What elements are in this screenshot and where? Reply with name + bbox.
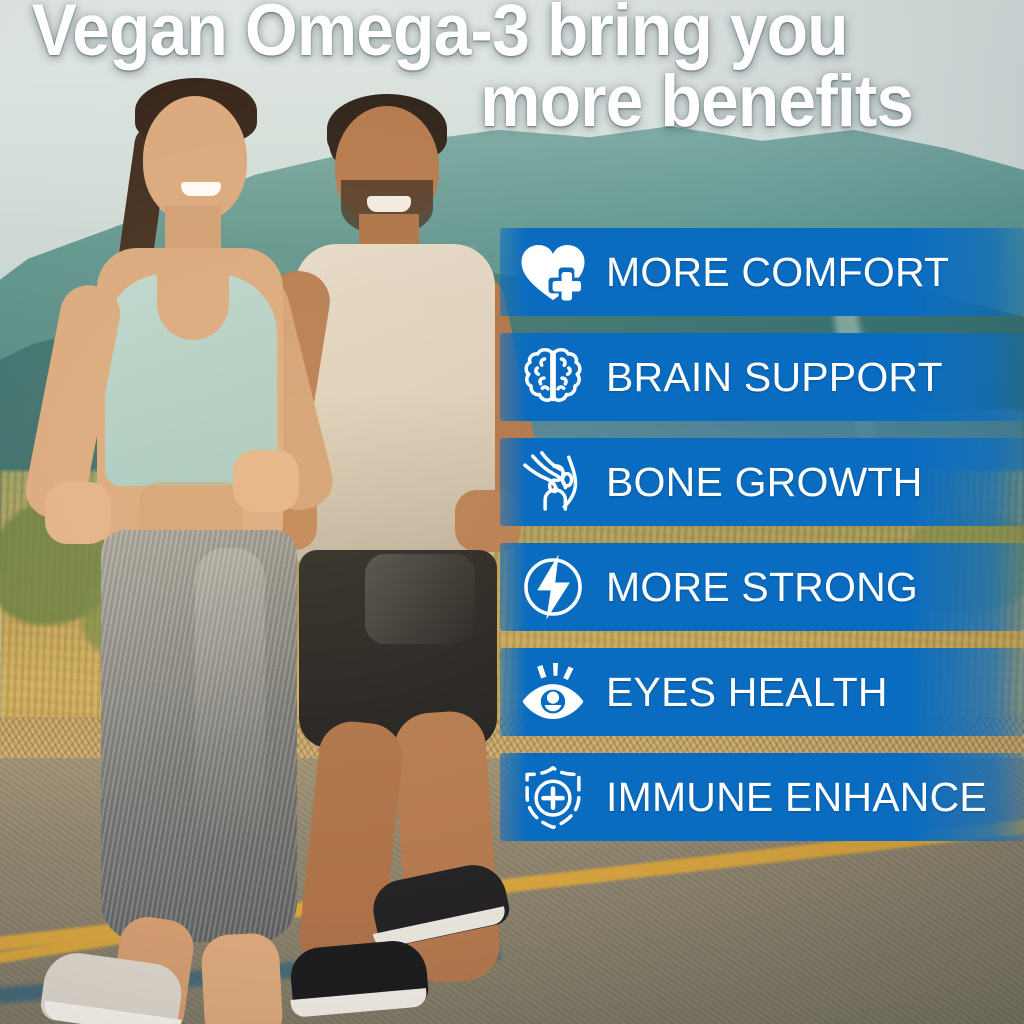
- benefit-label: MORE COMFORT: [606, 249, 949, 296]
- benefits-list: MORE COMFORT BRAIN SUPPOR: [500, 228, 1024, 858]
- brain-icon: [514, 338, 592, 416]
- eye-icon: [514, 653, 592, 731]
- benefit-row-more-strong: MORE STRONG: [500, 543, 1024, 631]
- product-benefits-poster: Vegan Omega-3 bring you more benefits MO…: [0, 0, 1024, 1024]
- benefit-label: IMMUNE ENHANCE: [606, 774, 987, 821]
- knee-joint-icon: [514, 443, 592, 521]
- lightning-bolt-icon: [514, 548, 592, 626]
- benefit-row-eyes-health: EYES HEALTH: [500, 648, 1024, 736]
- benefit-row-brain-support: BRAIN SUPPORT: [500, 333, 1024, 421]
- benefit-label: BRAIN SUPPORT: [606, 354, 943, 401]
- shield-plus-icon: [514, 758, 592, 836]
- benefit-label: MORE STRONG: [606, 564, 918, 611]
- benefit-row-more-comfort: MORE COMFORT: [500, 228, 1024, 316]
- benefit-label: BONE GROWTH: [606, 459, 923, 506]
- benefit-label: EYES HEALTH: [606, 669, 888, 716]
- benefit-row-bone-growth: BONE GROWTH: [500, 438, 1024, 526]
- benefit-row-immune-enhance: IMMUNE ENHANCE: [500, 753, 1024, 841]
- heart-plus-icon: [514, 233, 592, 311]
